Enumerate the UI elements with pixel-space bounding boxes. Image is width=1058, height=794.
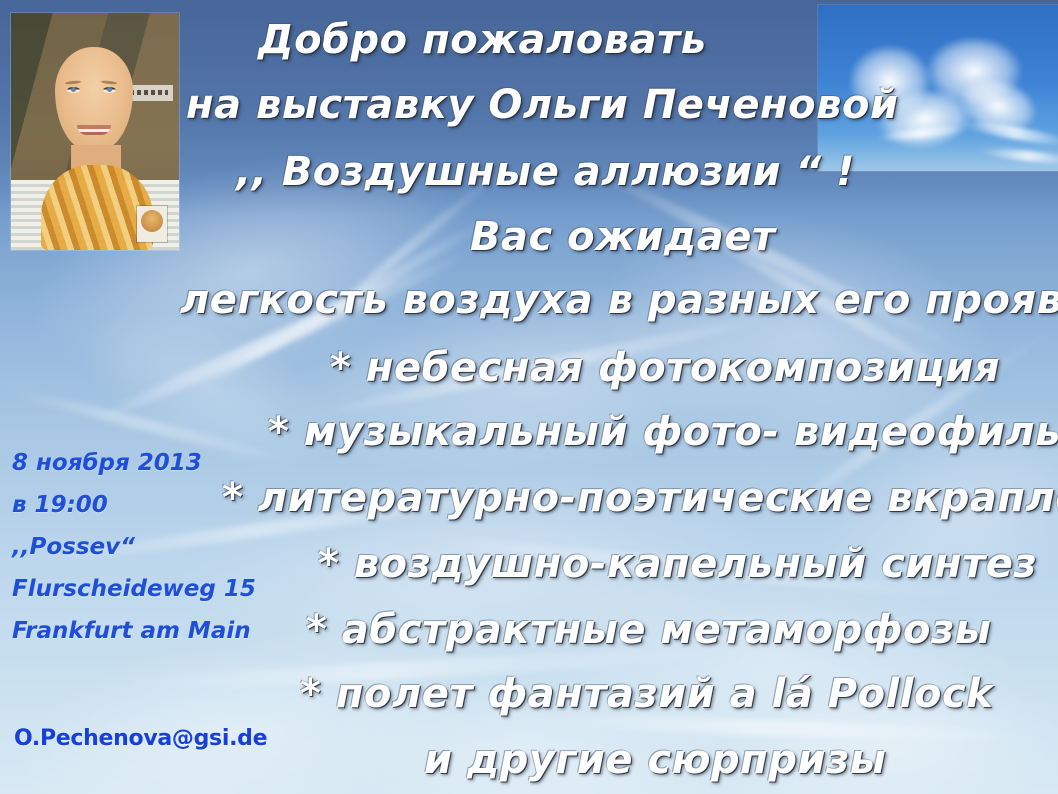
body-line-lightness: легкость воздуха в разных его проявления… [180, 280, 1058, 320]
portrait-face [55, 47, 133, 151]
bullet-item: * литературно-поэтические вкрапления [222, 478, 1058, 518]
event-city: Frankfurt am Main [12, 620, 312, 643]
portrait-eye-left [67, 87, 80, 93]
poster-canvas: Добро пожаловать на выставку Ольги Печен… [0, 0, 1058, 794]
portrait-mouth [77, 125, 111, 135]
bullet-item: * воздушно-капельный синтез [318, 544, 1037, 584]
event-time: в 19:00 [12, 494, 312, 517]
bullet-item: * небесная фотокомпозиция [330, 348, 1000, 388]
event-street: Flurscheideweg 15 [12, 578, 312, 601]
bullet-item: * полет фантазий a lá Pollock [300, 674, 993, 714]
portrait-photo [11, 13, 179, 250]
portrait-badge [137, 206, 167, 242]
headline-welcome: Добро пожаловать [258, 20, 707, 60]
event-date: 8 ноября 2013 [12, 452, 312, 475]
bullet-item: * музыкальный фото- видеофильм [268, 412, 1058, 452]
body-line-awaits: Вас ожидает [470, 217, 776, 257]
event-venue: ,,Possev“ [12, 536, 312, 559]
headline-exhibition: на выставку Ольги Печеновой [186, 85, 898, 125]
bullet-item-closing: и другие сюрпризы [424, 740, 886, 780]
contact-email[interactable]: O.Pechenova@gsi.de [14, 726, 267, 751]
headline-exhibition-title: ,, Воздушные аллюзии “ ! [236, 152, 855, 192]
event-details-block: 8 ноября 2013 в 19:00 ,,Possev“ Flursche… [12, 452, 312, 662]
bullet-item: * абстрактные метаморфозы [306, 610, 991, 650]
cloud-wisp [980, 146, 1058, 166]
portrait-eye-right [103, 87, 116, 93]
